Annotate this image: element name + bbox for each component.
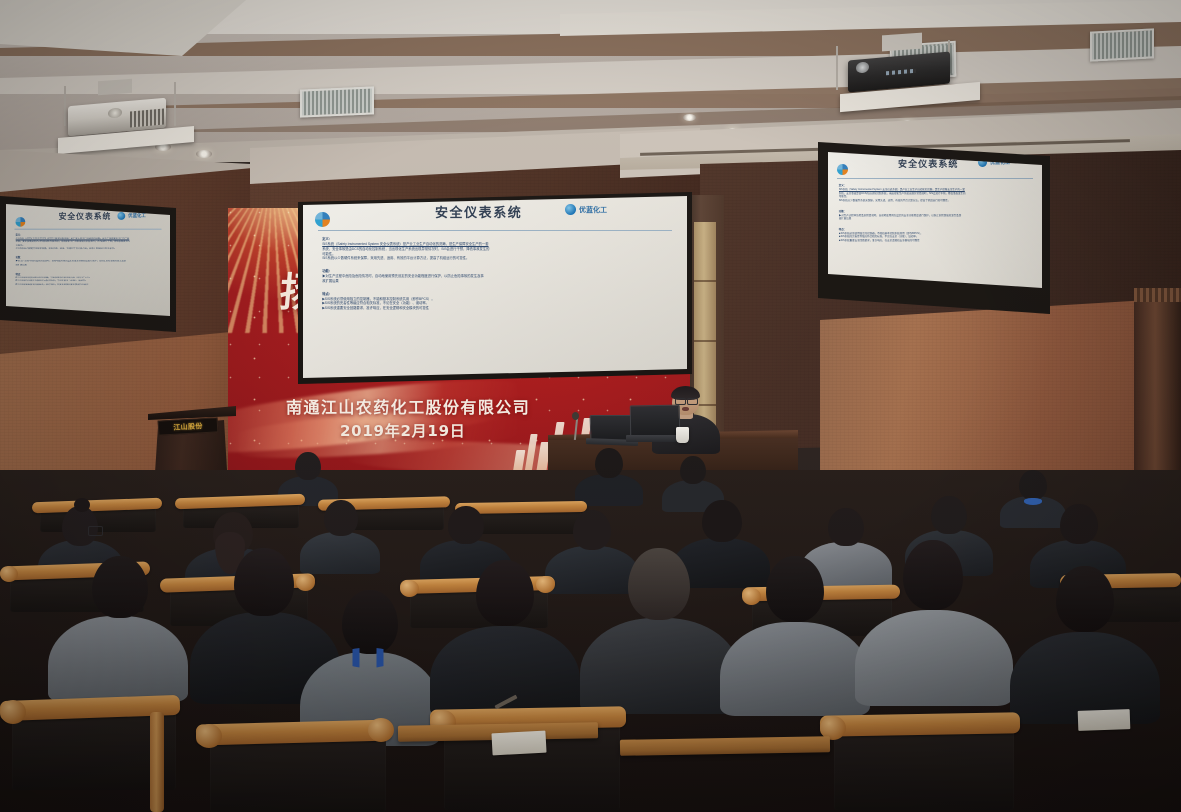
slide-corner-logo-icon	[315, 212, 330, 227]
brand-logo-icon	[117, 212, 125, 220]
right-wall-monitor[interactable]: 安全仪表系统 优蓝化工 定义： SIS系统（Safety Instrumente…	[828, 152, 1042, 294]
slide-line: ▶SIS系统重要安全回路要求，准许响应，在安全逻辑和安全模块的可靠性	[322, 306, 671, 311]
ceiling-projector-front	[820, 34, 990, 108]
chair-post	[150, 712, 164, 812]
chair-armrest-knob	[196, 724, 222, 748]
attendee-body	[720, 622, 870, 716]
ceiling-downlight-1	[683, 114, 696, 121]
pillar-strip-seam-2	[694, 340, 716, 342]
attendee-head	[595, 448, 623, 478]
right-monitor-slide: 安全仪表系统 优蓝化工 定义： SIS系统（Safety Instrumente…	[828, 152, 1042, 294]
auditorium-chair[interactable]	[196, 716, 392, 812]
attendee-lanyard	[342, 648, 394, 668]
hvac-vent-left	[300, 86, 374, 117]
slide-body: 定义： SIS系统（Safety Instrumented System 安全仪…	[322, 236, 671, 311]
attendee-notebook[interactable]	[491, 731, 546, 756]
slide-line: ▶SIS系统重要安全回路要求，准许响应，在安全逻辑和安全模块的可靠性	[839, 239, 1034, 243]
hvac-vent-right	[1090, 28, 1154, 61]
attendee-head	[476, 560, 534, 626]
auditorium-chair[interactable]	[430, 700, 626, 812]
slide-corner-logo-icon	[15, 217, 25, 227]
left-monitor-slide: 安全仪表系统 优蓝化工 定义： SIS系统（Safety Instrumente…	[8, 205, 169, 321]
auditorium-chair[interactable]	[820, 706, 1020, 812]
attendee-notebook[interactable]	[1078, 709, 1131, 731]
presenter-glasses-icon	[687, 398, 698, 405]
attendee-head	[1056, 566, 1114, 632]
attendee	[855, 540, 1013, 700]
slide-section-heading: 特点：	[322, 291, 671, 296]
slide-body: 定义： SIS系统（Safety Instrumented System 安全仪…	[839, 183, 1034, 243]
attendee	[1010, 566, 1160, 718]
projector-rod-front-l	[836, 46, 838, 90]
attendee-head	[680, 456, 706, 484]
left-wall-monitor[interactable]: 安全仪表系统 优蓝化工 定义： SIS系统（Safety Instrumente…	[6, 204, 170, 322]
attendee-head	[448, 506, 484, 544]
slide-title: 安全仪表系统	[435, 202, 522, 221]
slide-section-heading: 功能：	[839, 209, 1034, 213]
attendee-head	[702, 500, 742, 542]
backdrop-organization-text: 南通江山农药化工股份有限公司	[286, 394, 530, 418]
attendee-head	[234, 548, 294, 616]
slide-section-heading: 定义：	[16, 233, 162, 237]
attendee-hair-bun	[74, 498, 90, 512]
chair-armrest-knob	[0, 566, 18, 582]
attendee-head	[295, 452, 321, 480]
laptop-right-base[interactable]	[626, 435, 682, 442]
projector-rod-rear-l	[64, 86, 66, 126]
attendee	[575, 448, 643, 504]
projector-mount-rear	[98, 79, 132, 95]
main-projection-screen[interactable]: 安全仪表系统 优蓝化工 定义： SIS系统（Safety Instrumente…	[303, 196, 687, 378]
projector-mount-front	[882, 33, 922, 52]
attendee-head	[324, 500, 358, 536]
attendee	[720, 556, 870, 710]
attendee-head	[1060, 504, 1098, 544]
chair-armrest-knob	[0, 700, 26, 724]
projector-vent-rear	[130, 109, 164, 128]
slide-section-heading: 定义：	[322, 236, 671, 241]
slide-section-heading: 功能：	[322, 268, 671, 273]
slide-section-heading: 定义：	[839, 183, 1034, 187]
microphone-head-icon	[572, 412, 579, 420]
ceiling-projector-rear	[40, 84, 200, 154]
slide-section-heading: 特点：	[16, 272, 162, 276]
brand-logo-icon	[565, 204, 576, 215]
slide-header-rule	[837, 178, 1034, 179]
attendee-head	[766, 556, 824, 622]
auditorium-chair[interactable]	[0, 690, 180, 812]
slide-header-rule	[14, 229, 162, 230]
slide-spacer	[322, 284, 671, 291]
slide-corner-logo-icon	[837, 164, 848, 175]
attendee-head	[342, 590, 398, 654]
slide-title: 安全仪表系统	[59, 211, 112, 222]
slide-brand-logo: 优蓝化工	[565, 204, 607, 215]
attendee-body	[855, 610, 1013, 706]
attendee-head	[92, 556, 148, 618]
slide-section-heading: 功能：	[16, 255, 162, 259]
attendee	[580, 548, 740, 708]
presenter-cup	[676, 427, 689, 443]
pillar-strip-seam-1	[694, 280, 716, 282]
attendee-head	[931, 496, 967, 534]
projector-rod-rear-r	[174, 82, 176, 126]
wall-right-column-cap	[1134, 288, 1181, 302]
main-slide: 安全仪表系统 优蓝化工 定义： SIS系统（Safety Instrumente…	[303, 196, 687, 378]
podium-nameplate-text: 江山股份	[173, 421, 203, 433]
attendee	[48, 556, 188, 696]
attendee-head	[1019, 470, 1047, 500]
conference-hall-photo: 扬 程 南通江山农药化工股份有限公司 2019年2月19日 安全仪表系统	[0, 0, 1181, 812]
slide-line: ▶SIS系统重要安全回路要求，准许响应，在安全逻辑和安全模块的可靠性	[16, 283, 162, 286]
slide-body: 定义： SIS系统（Safety Instrumented System 安全仪…	[16, 233, 162, 287]
chair-backrest	[210, 738, 386, 812]
brand-logo-text: 优蓝化工	[579, 205, 607, 215]
attendee-head	[573, 510, 611, 550]
attendee-glasses-icon	[88, 526, 103, 536]
backdrop-date-text: 2019年2月19日	[340, 420, 466, 441]
slide-header-rule	[318, 230, 671, 231]
chair-top-rail	[820, 712, 1020, 736]
chair-backrest	[834, 730, 1014, 810]
slide-section-heading: 特点：	[839, 227, 1034, 231]
attendee	[430, 560, 580, 712]
brand-logo-text: 优蓝化工	[128, 213, 146, 219]
slide-spacer	[322, 261, 671, 268]
attendee-head	[628, 548, 690, 620]
attendee-head	[903, 540, 963, 610]
slide-brand-logo: 优蓝化工	[117, 212, 145, 220]
chair-armrest-knob	[368, 718, 394, 742]
presenter-mouth	[682, 407, 689, 411]
